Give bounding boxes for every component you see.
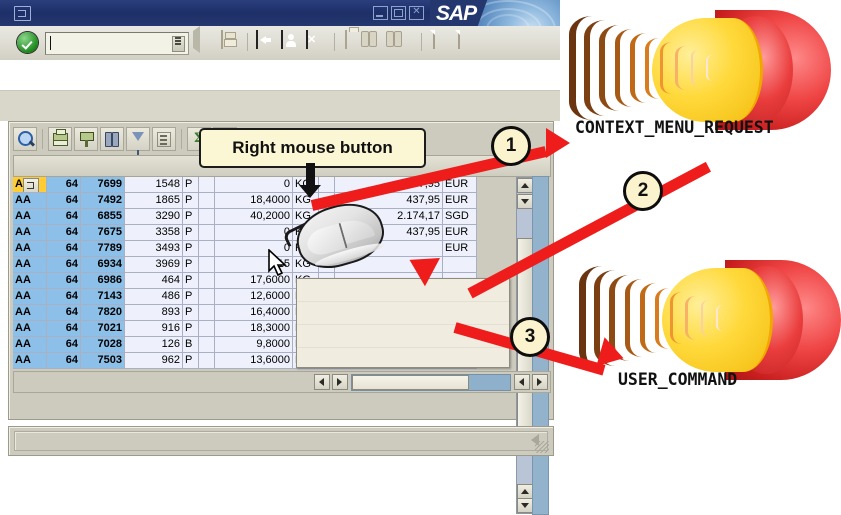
cell-status[interactable]: AA: [13, 273, 47, 289]
sap-gui-window: ✕ SAP ✕: [0, 0, 560, 469]
soundwave-arc: [716, 305, 723, 332]
cell-item[interactable]: 3969: [125, 257, 183, 273]
text-caret: [50, 36, 51, 50]
cell-doc[interactable]: 7789: [81, 241, 125, 257]
cell-plant[interactable]: 64: [47, 177, 81, 193]
cell-type[interactable]: P: [183, 177, 199, 193]
step-number-1: 1: [491, 126, 531, 166]
grid-horizontal-scrollbar[interactable]: [13, 371, 551, 393]
cell-doc[interactable]: 6934: [81, 257, 125, 273]
cell-qty[interactable]: 9,8000: [215, 337, 293, 353]
soundwave-arc: [675, 46, 685, 90]
soundwave-arc: [685, 296, 695, 340]
filter-icon[interactable]: [126, 127, 150, 151]
mouse-right-button: [340, 215, 375, 244]
enter-ok-icon[interactable]: [17, 32, 38, 53]
cell-type[interactable]: P: [183, 193, 199, 209]
cell-doc[interactable]: 7820: [81, 305, 125, 321]
cell-item[interactable]: 3358: [125, 225, 183, 241]
command-field[interactable]: [45, 32, 189, 55]
callout-pointer-arrow: [306, 163, 315, 191]
soundwave-arc: [660, 42, 672, 94]
cell-doc[interactable]: 6855: [81, 209, 125, 225]
help-icon[interactable]: [479, 31, 501, 53]
horizontal-scroll-track[interactable]: [351, 374, 511, 391]
cell-doc[interactable]: 7492: [81, 193, 125, 209]
cell-doc[interactable]: 7699: [81, 177, 125, 193]
cell-plant[interactable]: 64: [47, 273, 81, 289]
details-magnifier-icon[interactable]: [13, 127, 37, 151]
soundwave-arc: [640, 283, 656, 353]
cell-qty[interactable]: 13,6000: [215, 353, 293, 369]
cell-status[interactable]: AA: [13, 321, 47, 337]
cell-plant[interactable]: 64: [47, 241, 81, 257]
cell-flag[interactable]: [199, 273, 215, 289]
table-row[interactable]: AA6476753358P0KG437,95EUR: [13, 225, 533, 241]
callout-right-mouse-button: Right mouse button: [199, 128, 426, 168]
scroll-right-button-2[interactable]: [532, 374, 548, 390]
cell-item[interactable]: 486: [125, 289, 183, 305]
sap-brand-area: SAP: [430, 0, 560, 26]
table-row[interactable]: AA6468553290P40,2000KG2.174,17SGD: [13, 209, 533, 225]
cell-item[interactable]: 962: [125, 353, 183, 369]
table-row[interactable]: A6476991548P0KG437,95EUR: [13, 177, 533, 193]
close-button[interactable]: ✕: [409, 6, 424, 20]
cell-type[interactable]: P: [183, 353, 199, 369]
cell-plant[interactable]: 64: [47, 225, 81, 241]
cell-item[interactable]: 3493: [125, 241, 183, 257]
cell-item[interactable]: 893: [125, 305, 183, 321]
filter-options-icon[interactable]: [152, 127, 176, 151]
application-titlebar: [0, 60, 560, 91]
cell-plant[interactable]: 64: [47, 321, 81, 337]
cell-qty[interactable]: 18,3000: [215, 321, 293, 337]
cell-type[interactable]: P: [183, 257, 199, 273]
window-resize-grip[interactable]: [535, 441, 549, 453]
cell-item[interactable]: 126: [125, 337, 183, 353]
horizontal-scroll-thumb[interactable]: [352, 375, 469, 390]
cell-item[interactable]: 464: [125, 273, 183, 289]
sap-logo-backdrop: SAP: [430, 0, 502, 26]
soundwave-arc: [630, 33, 646, 103]
cell-doc[interactable]: 7503: [81, 353, 125, 369]
cell-flag[interactable]: [199, 193, 215, 209]
exit-icon[interactable]: [280, 31, 302, 53]
step-3-label: 3: [525, 326, 536, 348]
soundwave-arc: [655, 288, 669, 349]
cell-status[interactable]: AA: [13, 193, 47, 209]
event-megaphone-context-menu-request: [565, 2, 831, 136]
scroll-up-button[interactable]: [517, 178, 533, 193]
cell-doc[interactable]: 6986: [81, 273, 125, 289]
step-2-label: 2: [638, 180, 649, 202]
cell-status[interactable]: AA: [13, 305, 47, 321]
cell-type[interactable]: P: [183, 289, 199, 305]
callout-label: Right mouse button: [232, 138, 393, 158]
cell-flag[interactable]: [199, 337, 215, 353]
command-history-dropdown-icon[interactable]: [172, 36, 185, 52]
toolbar-separator: [247, 33, 248, 51]
cell-doc[interactable]: 7675: [81, 225, 125, 241]
cell-plant[interactable]: 64: [47, 305, 81, 321]
find-next-icon[interactable]: [392, 31, 414, 53]
cell-type[interactable]: P: [183, 209, 199, 225]
event-label-context-menu-request: CONTEXT_MENU_REQUEST: [575, 118, 774, 137]
cell-plant[interactable]: 64: [47, 193, 81, 209]
scroll-right-button[interactable]: [332, 374, 348, 390]
scroll-left-button[interactable]: [314, 374, 330, 390]
cell-cur[interactable]: SGD: [443, 209, 477, 225]
cell-flag[interactable]: [199, 353, 215, 369]
sap-logo: SAP: [436, 2, 476, 26]
alv-separator: [181, 129, 182, 149]
cell-qty[interactable]: 16,4000: [215, 305, 293, 321]
print-icon[interactable]: [48, 127, 72, 151]
minimize-button[interactable]: [373, 6, 388, 20]
scroll-up-button-2[interactable]: [517, 484, 533, 499]
cell-flag[interactable]: [199, 225, 215, 241]
cell-plant[interactable]: 64: [47, 289, 81, 305]
toolbar-separator: [334, 33, 335, 51]
window-titlebar: ✕ SAP: [0, 0, 560, 26]
soundwave-arc: [691, 50, 699, 85]
alv-separator: [42, 129, 43, 149]
previous-page-icon[interactable]: [454, 31, 476, 53]
cell-qty[interactable]: 0: [215, 177, 293, 193]
cell-flag[interactable]: [199, 305, 215, 321]
cell-flag[interactable]: [199, 321, 215, 337]
scroll-left-button-2[interactable]: [514, 374, 530, 390]
back-icon[interactable]: [255, 31, 277, 53]
first-page-icon[interactable]: [429, 31, 451, 53]
cancel-icon[interactable]: ✕: [305, 31, 327, 53]
cell-qty[interactable]: 0: [215, 225, 293, 241]
cell-item[interactable]: 1548: [125, 177, 183, 193]
cell-cur[interactable]: [443, 257, 477, 273]
cell-type[interactable]: P: [183, 225, 199, 241]
maximize-button[interactable]: [391, 6, 406, 20]
save-icon[interactable]: [218, 31, 240, 53]
status-bar: [8, 426, 554, 456]
event-label-user-command: USER_COMMAND: [618, 370, 737, 389]
cell-status[interactable]: AA: [13, 353, 47, 369]
soundwave-arc: [645, 38, 659, 99]
soundwave-arc: [670, 292, 682, 344]
cell-status[interactable]: AA: [13, 289, 47, 305]
cell-plant[interactable]: 64: [47, 209, 81, 225]
flow-arrow-1-head: [546, 128, 570, 158]
table-row[interactable]: AA6474921865P18,4000KG437,95EUR: [13, 193, 533, 209]
event-0-text: CONTEXT_MENU_REQUEST: [575, 118, 774, 137]
find-binoculars-icon[interactable]: [100, 127, 124, 151]
cell-type[interactable]: B: [183, 337, 199, 353]
cell-cur[interactable]: EUR: [443, 225, 477, 241]
step-1-label: 1: [506, 135, 517, 157]
context-menu-item[interactable]: [297, 302, 509, 325]
row-detail-icon[interactable]: [23, 178, 39, 193]
cell-type[interactable]: P: [183, 321, 199, 337]
cell-type[interactable]: P: [183, 305, 199, 321]
cell-type[interactable]: P: [183, 273, 199, 289]
cell-flag[interactable]: [199, 257, 215, 273]
cell-status[interactable]: AA: [13, 241, 47, 257]
cell-plant[interactable]: 64: [47, 353, 81, 369]
cell-item[interactable]: 916: [125, 321, 183, 337]
window-controls: ✕: [373, 6, 424, 20]
cell-flag[interactable]: [199, 289, 215, 305]
cell-item[interactable]: 3290: [125, 209, 183, 225]
scroll-down-button[interactable]: [517, 194, 533, 209]
cell-status[interactable]: AA: [13, 257, 47, 273]
cell-type[interactable]: P: [183, 241, 199, 257]
cell-doc[interactable]: 7021: [81, 321, 125, 337]
cell-cur[interactable]: EUR: [443, 241, 477, 257]
cell-cur[interactable]: EUR: [443, 193, 477, 209]
step-number-2: 2: [623, 171, 663, 211]
cell-item[interactable]: 1865: [125, 193, 183, 209]
cell-status[interactable]: AA: [13, 225, 47, 241]
event-1-text: USER_COMMAND: [618, 370, 737, 389]
status-message-area: [14, 431, 548, 451]
cell-plant[interactable]: 64: [47, 337, 81, 353]
soundwave-arc: [701, 300, 709, 335]
cell-status[interactable]: AA: [13, 337, 47, 353]
system-toolbar: ✕: [0, 26, 560, 60]
cell-flag[interactable]: [199, 209, 215, 225]
sort-ascending-icon[interactable]: [74, 127, 98, 151]
scroll-down-button-2[interactable]: [517, 498, 533, 513]
soundwave-arc: [706, 55, 713, 82]
cell-status[interactable]: A: [13, 177, 47, 193]
cell-flag[interactable]: [199, 241, 215, 257]
cell-qty[interactable]: 12,6000: [215, 289, 293, 305]
cell-status[interactable]: AA: [13, 209, 47, 225]
window-menu-icon[interactable]: [14, 6, 31, 21]
application-toolbar-band: [0, 91, 560, 121]
cell-doc[interactable]: 7143: [81, 289, 125, 305]
cell-doc[interactable]: 7028: [81, 337, 125, 353]
cell-plant[interactable]: 64: [47, 257, 81, 273]
step-number-3: 3: [510, 317, 550, 357]
toolbar-separator: [421, 33, 422, 51]
cell-flag[interactable]: [199, 177, 215, 193]
back-arrow-icon[interactable]: [193, 31, 215, 53]
mouse-body: [289, 194, 390, 276]
system-toolbar-icons: ✕: [193, 31, 501, 53]
mouse-cursor-icon: [268, 249, 290, 279]
